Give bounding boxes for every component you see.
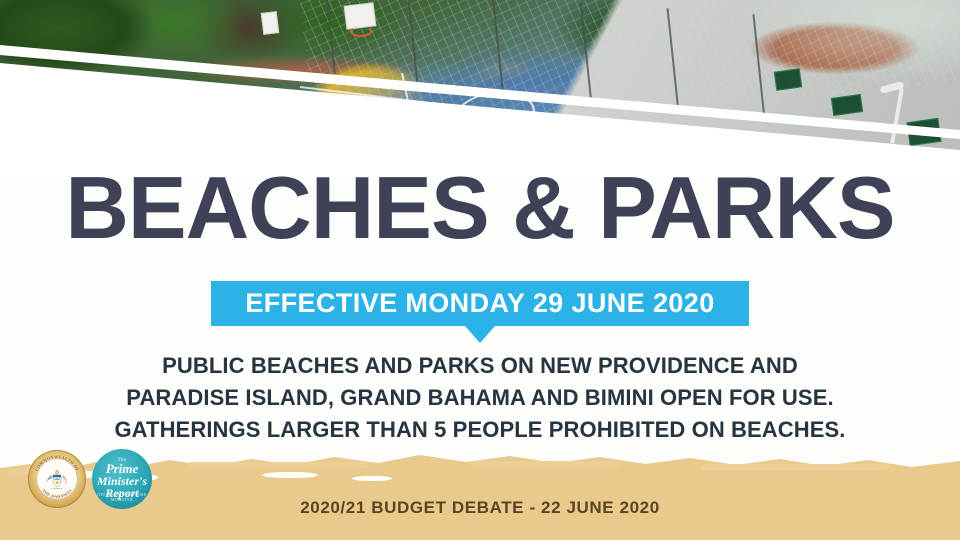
pmr-the-label: The: [92, 458, 152, 463]
building-window: [831, 94, 863, 116]
public-health-announcement-poster: BEACHES & PARKS EFFECTIVE MONDAY 29 JUNE…: [0, 0, 960, 540]
page-title: BEACHES & PARKS: [0, 164, 960, 252]
logo-group: COMMONWEALTH OF THE BAHAMAS: [28, 449, 152, 509]
sand-edge-notch: [262, 472, 318, 478]
building-window: [774, 68, 802, 90]
sand-texture-wisp: [470, 461, 620, 467]
pmr-sub-label: OFFICE OF THE PRIME MINISTER: [92, 492, 152, 502]
pmr-line-1: Prime: [97, 462, 147, 475]
coat-of-arms-seal-icon: COMMONWEALTH OF THE BAHAMAS: [28, 450, 86, 508]
sand-edge-notch: [352, 476, 392, 481]
bahamas-coat-of-arms-icon: [42, 464, 72, 494]
banner-pointer-triangle: [465, 326, 495, 343]
body-line-2: PARADISE ISLAND, GRAND BAHAMA AND BIMINI…: [0, 382, 960, 414]
effective-date-banner: EFFECTIVE MONDAY 29 JUNE 2020: [0, 281, 960, 343]
announcement-body: PUBLIC BEACHES AND PARKS ON NEW PROVIDEN…: [0, 350, 960, 446]
sand-texture-wisp: [700, 464, 890, 470]
effective-date-label: EFFECTIVE MONDAY 29 JUNE 2020: [211, 281, 748, 326]
prime-ministers-report-logo-icon: The Prime Minister's Report OFFICE OF TH…: [92, 449, 152, 509]
sand-texture-wisp: [188, 462, 368, 468]
street-light-pole: [890, 88, 904, 144]
poster-content: BEACHES & PARKS EFFECTIVE MONDAY 29 JUNE…: [0, 150, 960, 480]
backboard-icon: [261, 11, 280, 35]
body-line-1: PUBLIC BEACHES AND PARKS ON NEW PROVIDEN…: [0, 350, 960, 382]
body-line-3: GATHERINGS LARGER THAN 5 PEOPLE PROHIBIT…: [0, 414, 960, 446]
basketball-hoop-icon: [350, 26, 372, 37]
